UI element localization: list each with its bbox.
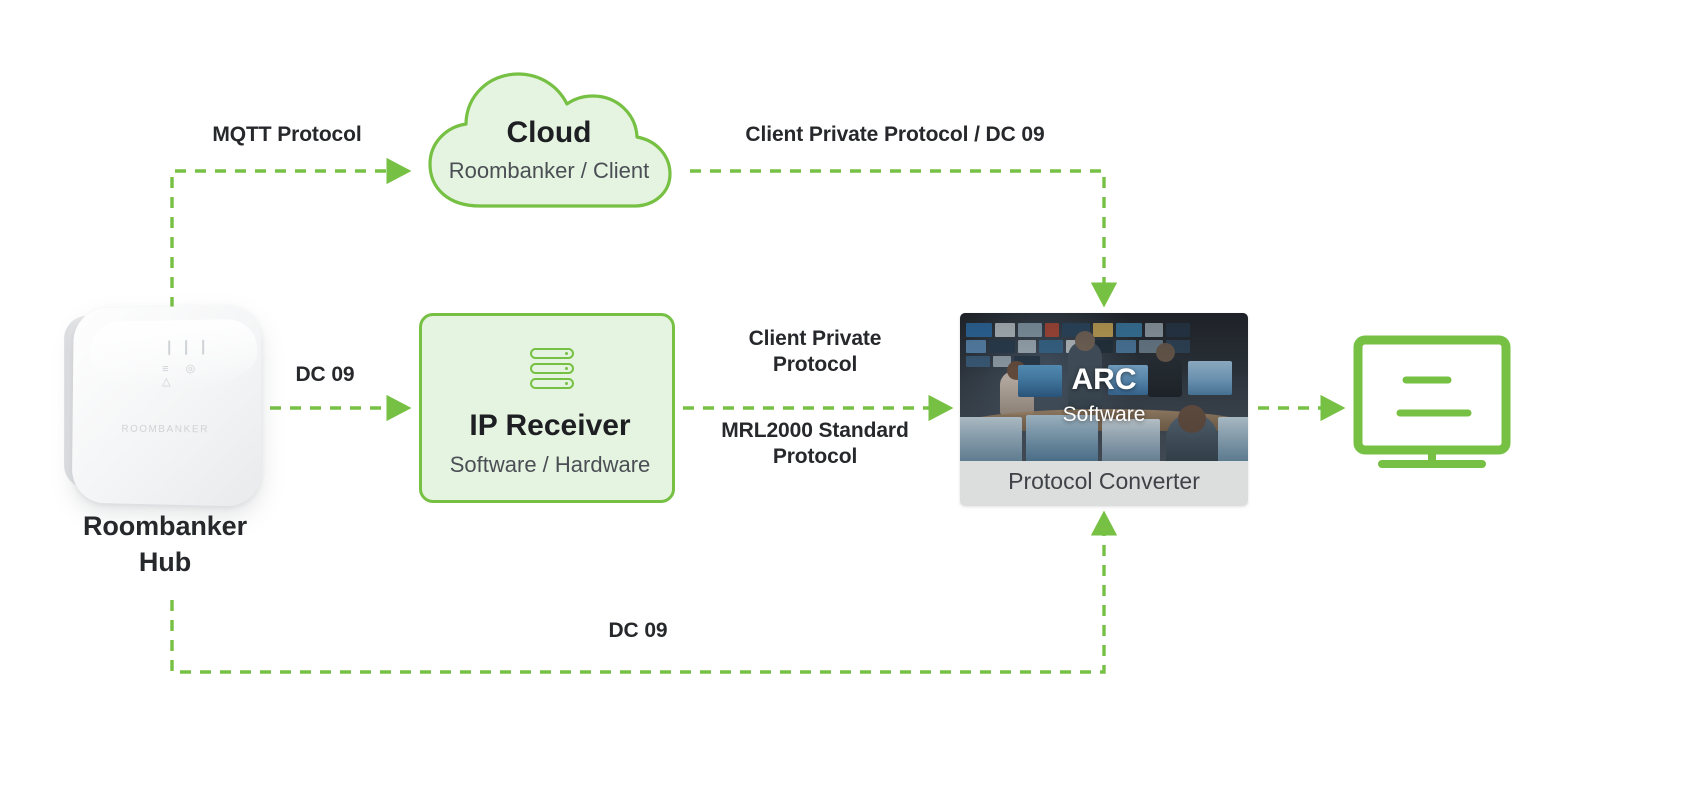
label-dc09-hub-to-ipr: DC 09: [255, 362, 395, 388]
label-mqtt-protocol: MQTT Protocol: [182, 122, 392, 148]
arc-footer-label: Protocol Converter: [960, 468, 1248, 495]
wire-hub-to-arc-bottom: [172, 518, 1104, 672]
wire-cloud-to-arc: [690, 171, 1104, 300]
node-cloud[interactable]: Cloud Roombanker / Client: [418, 58, 680, 218]
hub-status-glyphs: ≡ ◎ △: [162, 362, 224, 377]
arc-footer-bar: Protocol Converter: [960, 461, 1248, 506]
desktop-monitor-icon: [1352, 334, 1512, 469]
cloud-title: Cloud: [418, 116, 680, 150]
hub-body: ≡ ◎ △ ROOMBANKER: [72, 304, 262, 506]
arc-title: ARC: [960, 363, 1248, 397]
hub-brand-text: ROOMBANKER: [72, 424, 261, 436]
cloud-subtitle: Roombanker / Client: [418, 158, 680, 184]
label-client-private-protocol-dc09: Client Private Protocol / DC 09: [700, 122, 1090, 148]
node-monitor[interactable]: [1352, 334, 1512, 469]
node-arc[interactable]: ARC Software Protocol Converter: [960, 313, 1248, 506]
arc-subtitle: Software: [960, 403, 1248, 427]
hub-caption: Roombanker Hub: [40, 508, 290, 581]
node-roombanker-hub[interactable]: ≡ ◎ △ ROOMBANKER: [62, 300, 267, 515]
node-ip-receiver[interactable]: IP Receiver Software / Hardware: [419, 313, 675, 503]
hub-led-indicators: [164, 339, 222, 356]
ip-receiver-title: IP Receiver: [422, 409, 678, 443]
label-dc09-bottom: DC 09: [568, 618, 708, 644]
label-client-private-protocol: Client Private Protocol: [700, 326, 930, 377]
label-mrl2000-standard-protocol: MRL2000 Standard Protocol: [690, 418, 940, 469]
diagram-canvas: MQTT Protocol Client Private Protocol / …: [0, 0, 1700, 800]
ip-receiver-subtitle: Software / Hardware: [422, 452, 678, 478]
server-stack-icon: [530, 348, 574, 392]
